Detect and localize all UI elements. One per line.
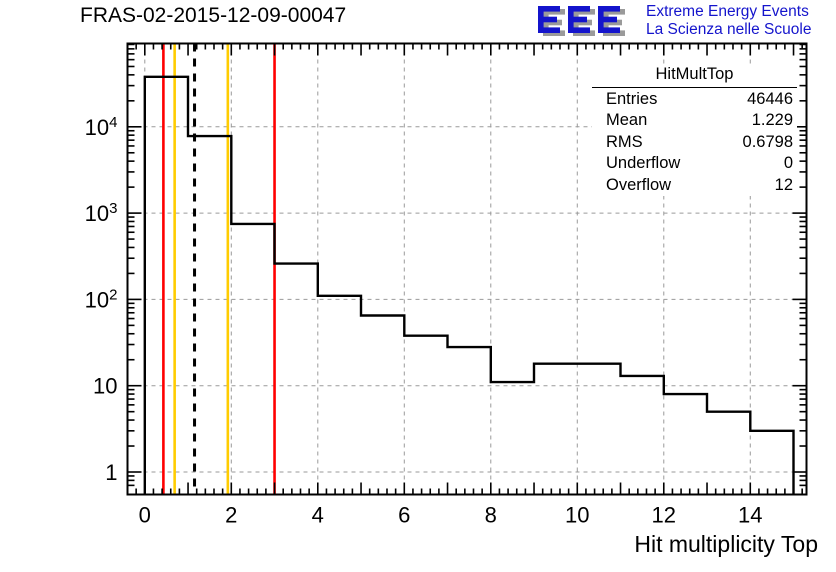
stats-value: 0 — [784, 153, 793, 175]
svg-text:102: 102 — [85, 286, 118, 313]
stats-divider — [592, 87, 797, 88]
stats-key: Overflow — [606, 175, 671, 197]
stats-title: HitMultTop — [592, 64, 797, 87]
stats-row: RMS0.6798 — [592, 132, 797, 154]
stats-row: Entries46446 — [592, 89, 797, 111]
svg-text:103: 103 — [85, 200, 118, 227]
vertical-markers — [163, 44, 274, 495]
stats-box: HitMultTop Entries46446Mean1.229RMS0.679… — [592, 64, 797, 196]
svg-text:1: 1 — [105, 460, 117, 485]
svg-text:10: 10 — [93, 374, 117, 399]
stats-rows: Entries46446Mean1.229RMS0.6798Underflow0… — [592, 89, 797, 197]
histogram-canvas: FRAS-02-2015-12-09-00047 Extreme Energy … — [0, 0, 836, 572]
stats-key: Entries — [606, 89, 657, 111]
x-tick-label: 4 — [312, 503, 324, 528]
stats-key: RMS — [606, 132, 643, 154]
stats-key: Mean — [606, 110, 647, 132]
x-axis-title: Hit multiplicity Top — [634, 531, 818, 558]
x-tick-label: 6 — [398, 503, 410, 528]
x-tick-label: 8 — [485, 503, 497, 528]
stats-value: 0.6798 — [743, 132, 793, 154]
stats-row: Underflow0 — [592, 153, 797, 175]
stats-row: Mean1.229 — [592, 110, 797, 132]
x-tick-label: 12 — [652, 503, 676, 528]
y-axis-tick-labels: 110102103104 — [85, 113, 118, 485]
svg-text:104: 104 — [85, 113, 118, 140]
x-tick-label: 0 — [139, 503, 151, 528]
x-axis-tick-labels: 02468101214 — [139, 503, 763, 528]
stats-value: 46446 — [747, 89, 793, 111]
x-tick-label: 10 — [565, 503, 589, 528]
stats-row: Overflow12 — [592, 175, 797, 197]
x-tick-label: 2 — [225, 503, 237, 528]
stats-value: 1.229 — [752, 110, 793, 132]
stats-value: 12 — [775, 175, 793, 197]
stats-key: Underflow — [606, 153, 680, 175]
x-tick-label: 14 — [738, 503, 762, 528]
y-tick-label: 104 — [85, 113, 118, 140]
y-tick-label: 102 — [85, 286, 118, 313]
y-tick-label: 1 — [105, 460, 117, 485]
y-tick-label: 10 — [93, 374, 117, 399]
y-tick-label: 103 — [85, 200, 118, 227]
